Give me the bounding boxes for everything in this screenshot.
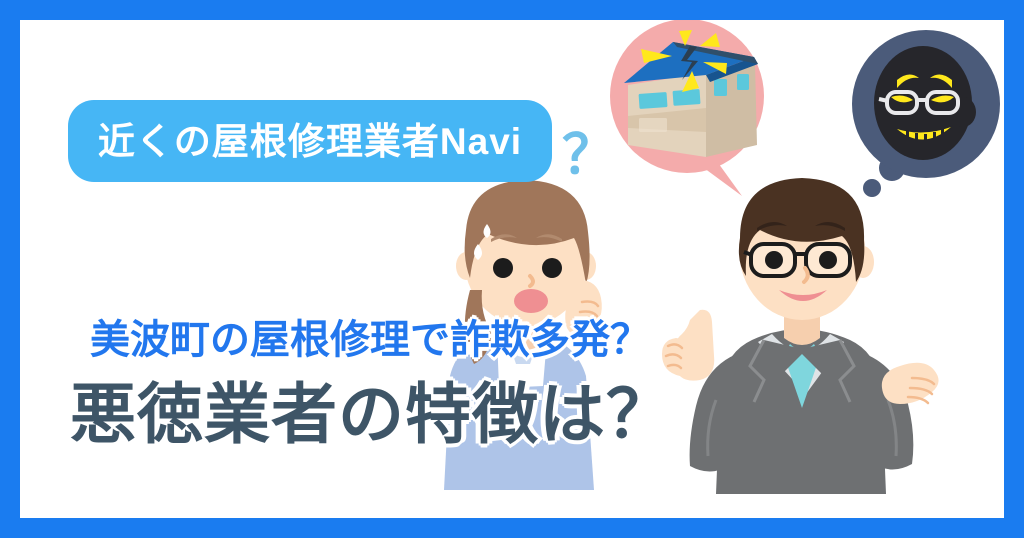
pointing-hand-icon [662, 310, 714, 381]
question-mark-decoration: ？ [562, 128, 616, 182]
open-hand-icon [882, 363, 939, 404]
subheadline: 美波町の屋根修理で詐欺多発？ [90, 320, 650, 360]
main-headline: 悪徳業者の特徴は？ [70, 378, 673, 451]
shady-contractor-thought-bubble [852, 30, 1000, 197]
banner-frame: 近くの屋根修理業者Navi ？ 美波町の屋根修理で詐欺多発？ 悪徳業者の特徴は？ [0, 0, 1024, 538]
house-icon [624, 30, 758, 157]
sweat-drops-icon [474, 224, 491, 260]
impact-rays-icon [641, 30, 727, 92]
site-name-badge-label: 近くの屋根修理業者Navi [98, 123, 522, 160]
banner-canvas: 近くの屋根修理業者Navi ？ 美波町の屋根修理で詐欺多発？ 悪徳業者の特徴は？ [20, 20, 1004, 518]
villain-face-icon [874, 46, 976, 160]
site-name-badge[interactable]: 近くの屋根修理業者Navi [68, 100, 552, 182]
damaged-roof-house-speech-bubble [610, 20, 764, 196]
pointing-businessman-illustration [662, 178, 939, 494]
